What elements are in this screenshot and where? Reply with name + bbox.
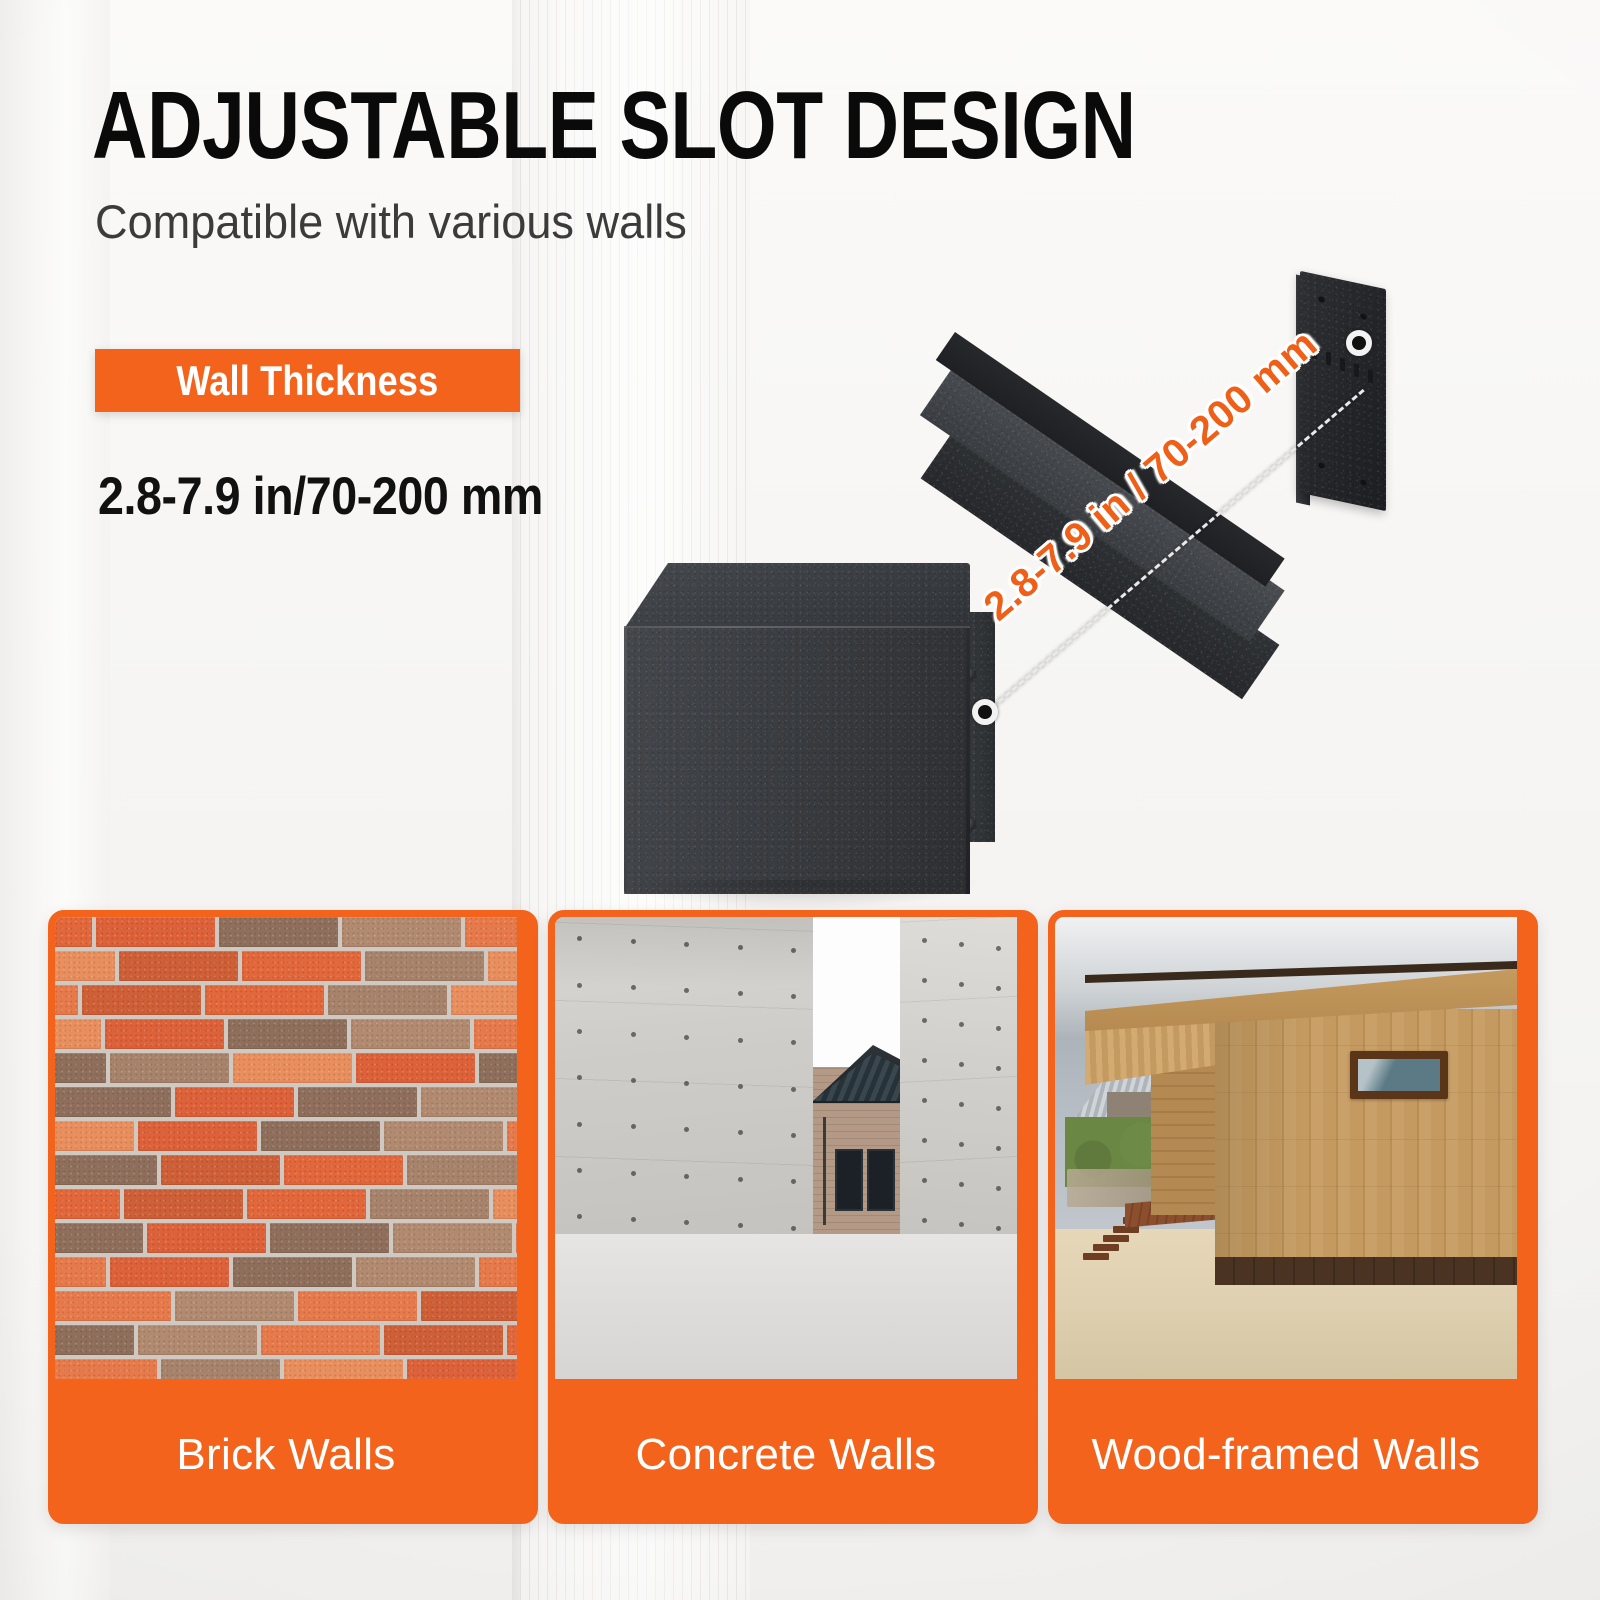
brick-unit xyxy=(479,1053,517,1083)
house-window xyxy=(1350,1051,1448,1099)
brick-unit xyxy=(488,951,517,981)
brick-wall-image xyxy=(55,917,517,1379)
form-tie-dot xyxy=(996,1066,1001,1071)
brick-unit xyxy=(407,1359,517,1379)
brick-unit xyxy=(55,1019,101,1049)
brick-unit xyxy=(82,985,201,1015)
wood-card-footer: Wood-framed Walls xyxy=(1055,1393,1517,1517)
form-tie-dot xyxy=(791,994,796,999)
concrete-wall-right xyxy=(900,917,1017,1237)
form-tie-dot xyxy=(738,1130,743,1135)
brick-unit xyxy=(328,985,447,1015)
brick-unit xyxy=(96,917,215,947)
form-tie-dot xyxy=(577,936,582,941)
plate-hole-icon xyxy=(1318,461,1325,469)
form-tie-dot xyxy=(791,1133,796,1138)
brick-unit xyxy=(342,917,461,947)
form-tie-dot xyxy=(996,1106,1001,1111)
wood-side-wall xyxy=(1151,1065,1223,1215)
form-tie-dot xyxy=(631,1078,636,1083)
form-tie-dot xyxy=(738,1084,743,1089)
form-tie-dot xyxy=(631,1032,636,1037)
form-tie-dot xyxy=(684,942,689,947)
brick-unit xyxy=(451,985,517,1015)
form-tie-dot xyxy=(922,1018,927,1023)
brick-unit xyxy=(138,1121,257,1151)
brick-unit xyxy=(284,1359,403,1379)
brick-unit xyxy=(228,1019,347,1049)
wall-type-card-concrete[interactable]: Concrete Walls xyxy=(548,910,1038,1524)
form-tie-dot xyxy=(959,942,964,947)
form-tie-dot xyxy=(684,988,689,993)
wood-wall-image xyxy=(1055,917,1517,1379)
form-tie-dot xyxy=(791,1040,796,1045)
brick-unit xyxy=(175,1087,294,1117)
brick-unit xyxy=(270,1223,389,1253)
brick-unit xyxy=(384,1121,503,1151)
brick-unit xyxy=(356,1053,475,1083)
form-tie-dot xyxy=(922,1058,927,1063)
brick-unit xyxy=(110,1257,229,1287)
brick-unit xyxy=(55,1087,171,1117)
form-tie-dot xyxy=(791,1179,796,1184)
form-tie-dot xyxy=(922,1218,927,1223)
brick-unit xyxy=(421,1291,517,1321)
wall-type-card-brick[interactable]: Brick Walls xyxy=(48,910,538,1524)
brick-unit xyxy=(55,1359,157,1379)
brick-unit xyxy=(55,1189,120,1219)
form-tie-dot xyxy=(959,1182,964,1187)
concrete-card-footer: Concrete Walls xyxy=(555,1393,1017,1517)
form-tie-dot xyxy=(631,1217,636,1222)
form-tie-dot xyxy=(959,982,964,987)
form-tie-dot xyxy=(631,1124,636,1129)
brick-card-footer: Brick Walls xyxy=(55,1393,517,1517)
brick-unit xyxy=(55,1121,134,1151)
enclosure-top-face xyxy=(624,563,970,629)
form-tie-dot xyxy=(738,1038,743,1043)
enclosure-shadow xyxy=(612,880,984,910)
plate-hole-icon xyxy=(1318,295,1325,303)
plate-slot-icon xyxy=(1340,357,1345,371)
brick-unit xyxy=(384,1325,503,1355)
form-tie-dot xyxy=(684,1127,689,1132)
brick-unit xyxy=(55,951,115,981)
wall-mount-plate xyxy=(1300,271,1386,511)
measurement-endpoint-icon xyxy=(1346,330,1372,356)
box-texture xyxy=(624,628,970,894)
form-tie-dot xyxy=(959,1142,964,1147)
step-tread xyxy=(1093,1244,1119,1251)
brick-unit xyxy=(261,1325,380,1355)
form-tie-dot xyxy=(684,1220,689,1225)
brick-unit xyxy=(242,951,361,981)
plate-slot-icon xyxy=(1326,351,1331,365)
form-tie-dot xyxy=(791,1226,796,1231)
brick-unit xyxy=(365,951,484,981)
form-tie-dot xyxy=(684,1081,689,1086)
plate-slot-icon xyxy=(1368,369,1373,383)
concrete-card-label: Concrete Walls xyxy=(636,1430,937,1480)
brick-unit xyxy=(516,1223,517,1253)
brick-unit xyxy=(55,985,78,1015)
form-tie-dot xyxy=(922,938,927,943)
brick-unit xyxy=(507,1325,517,1355)
plate-texture xyxy=(1300,271,1386,511)
brick-unit xyxy=(161,1155,280,1185)
brick-unit xyxy=(55,1291,171,1321)
brick-unit xyxy=(219,917,338,947)
form-tie-dot xyxy=(738,991,743,996)
brick-unit xyxy=(147,1223,266,1253)
form-tie-dot xyxy=(577,1075,582,1080)
brick-unit xyxy=(55,1325,134,1355)
form-tie-dot xyxy=(922,1178,927,1183)
wood-card-label: Wood-framed Walls xyxy=(1092,1430,1481,1480)
brick-unit xyxy=(105,1019,224,1049)
wood-scene xyxy=(1055,917,1517,1379)
plate-slot-icon xyxy=(1354,363,1359,377)
foundation-skirt xyxy=(1215,1257,1517,1285)
brick-unit xyxy=(507,1121,517,1151)
brick-unit xyxy=(55,1053,106,1083)
enclosure-front-face xyxy=(624,628,970,894)
brick-unit xyxy=(474,1019,517,1049)
brick-unit xyxy=(55,1155,157,1185)
form-tie-dot xyxy=(791,1087,796,1092)
brick-unit xyxy=(493,1189,517,1219)
concrete-ground xyxy=(555,1234,1017,1379)
brick-unit xyxy=(205,985,324,1015)
form-tie-dot xyxy=(959,1022,964,1027)
brick-unit xyxy=(479,1257,517,1287)
form-tie-dot xyxy=(996,1226,1001,1231)
brick-unit xyxy=(465,917,517,947)
form-tie-dot xyxy=(631,1171,636,1176)
enclosure-left-edge xyxy=(624,628,627,894)
brick-unit xyxy=(110,1053,229,1083)
form-tie-dot xyxy=(684,1174,689,1179)
brick-unit xyxy=(298,1291,417,1321)
step-tread xyxy=(1083,1253,1109,1260)
plate-hole-icon xyxy=(1360,478,1367,486)
brick-unit xyxy=(175,1291,294,1321)
downpipe xyxy=(823,1117,826,1225)
brick-unit xyxy=(55,917,92,947)
wall-type-card-wood[interactable]: Wood-framed Walls xyxy=(1048,910,1538,1524)
product-feature-banner: ADJUSTABLE SLOT DESIGN Compatible with v… xyxy=(0,0,1600,1600)
concrete-scene xyxy=(555,917,1017,1379)
brick-unit xyxy=(247,1189,366,1219)
form-tie-dot xyxy=(577,1122,582,1127)
form-tie-dot xyxy=(996,1186,1001,1191)
concrete-wall-image xyxy=(555,917,1017,1379)
form-tie-dot xyxy=(996,986,1001,991)
wall-type-card-list: Brick Walls Concrete xyxy=(0,910,1600,1514)
concrete-wall-left xyxy=(555,917,813,1235)
brick-unit xyxy=(161,1359,280,1379)
plate-hole-icon xyxy=(1360,312,1367,320)
form-tie-dot xyxy=(577,1214,582,1219)
form-tie-dot xyxy=(631,939,636,944)
brick-unit xyxy=(233,1257,352,1287)
brick-unit xyxy=(233,1053,352,1083)
measurement-endpoint-icon xyxy=(972,699,998,725)
form-tie-dot xyxy=(684,1035,689,1040)
form-tie-dot xyxy=(738,1223,743,1228)
form-tie-dot xyxy=(738,945,743,950)
form-tie-dot xyxy=(577,983,582,988)
brick-unit xyxy=(261,1121,380,1151)
building-window xyxy=(835,1149,863,1211)
brick-unit xyxy=(55,1257,106,1287)
form-tie-dot xyxy=(996,1026,1001,1031)
enclosure-right-edge xyxy=(966,628,970,894)
brick-unit xyxy=(55,1223,143,1253)
brick-texture xyxy=(55,917,517,1379)
building-window xyxy=(867,1149,895,1211)
form-tie-dot xyxy=(577,1168,582,1173)
brick-unit xyxy=(351,1019,470,1049)
form-tie-dot xyxy=(996,946,1001,951)
form-tie-dot xyxy=(922,1138,927,1143)
brick-unit xyxy=(138,1325,257,1355)
brick-unit xyxy=(298,1087,417,1117)
brick-card-label: Brick Walls xyxy=(176,1430,395,1480)
brick-unit xyxy=(421,1087,517,1117)
box-texture xyxy=(624,563,970,629)
form-tie-dot xyxy=(791,948,796,953)
form-tie-dot xyxy=(631,985,636,990)
form-tie-dot xyxy=(922,1098,927,1103)
brick-unit xyxy=(284,1155,403,1185)
form-tie-dot xyxy=(996,1146,1001,1151)
form-tie-dot xyxy=(738,1177,743,1182)
brick-unit xyxy=(119,951,238,981)
step-tread xyxy=(1103,1235,1129,1242)
form-tie-dot xyxy=(577,1029,582,1034)
form-tie-dot xyxy=(959,1062,964,1067)
brick-unit xyxy=(407,1155,517,1185)
form-tie-dot xyxy=(959,1222,964,1227)
wood-siding-wall xyxy=(1215,1009,1517,1281)
form-tie-dot xyxy=(959,1102,964,1107)
brick-unit xyxy=(393,1223,512,1253)
brick-unit xyxy=(124,1189,243,1219)
form-tie-dot xyxy=(922,978,927,983)
brick-unit xyxy=(370,1189,489,1219)
brick-unit xyxy=(356,1257,475,1287)
